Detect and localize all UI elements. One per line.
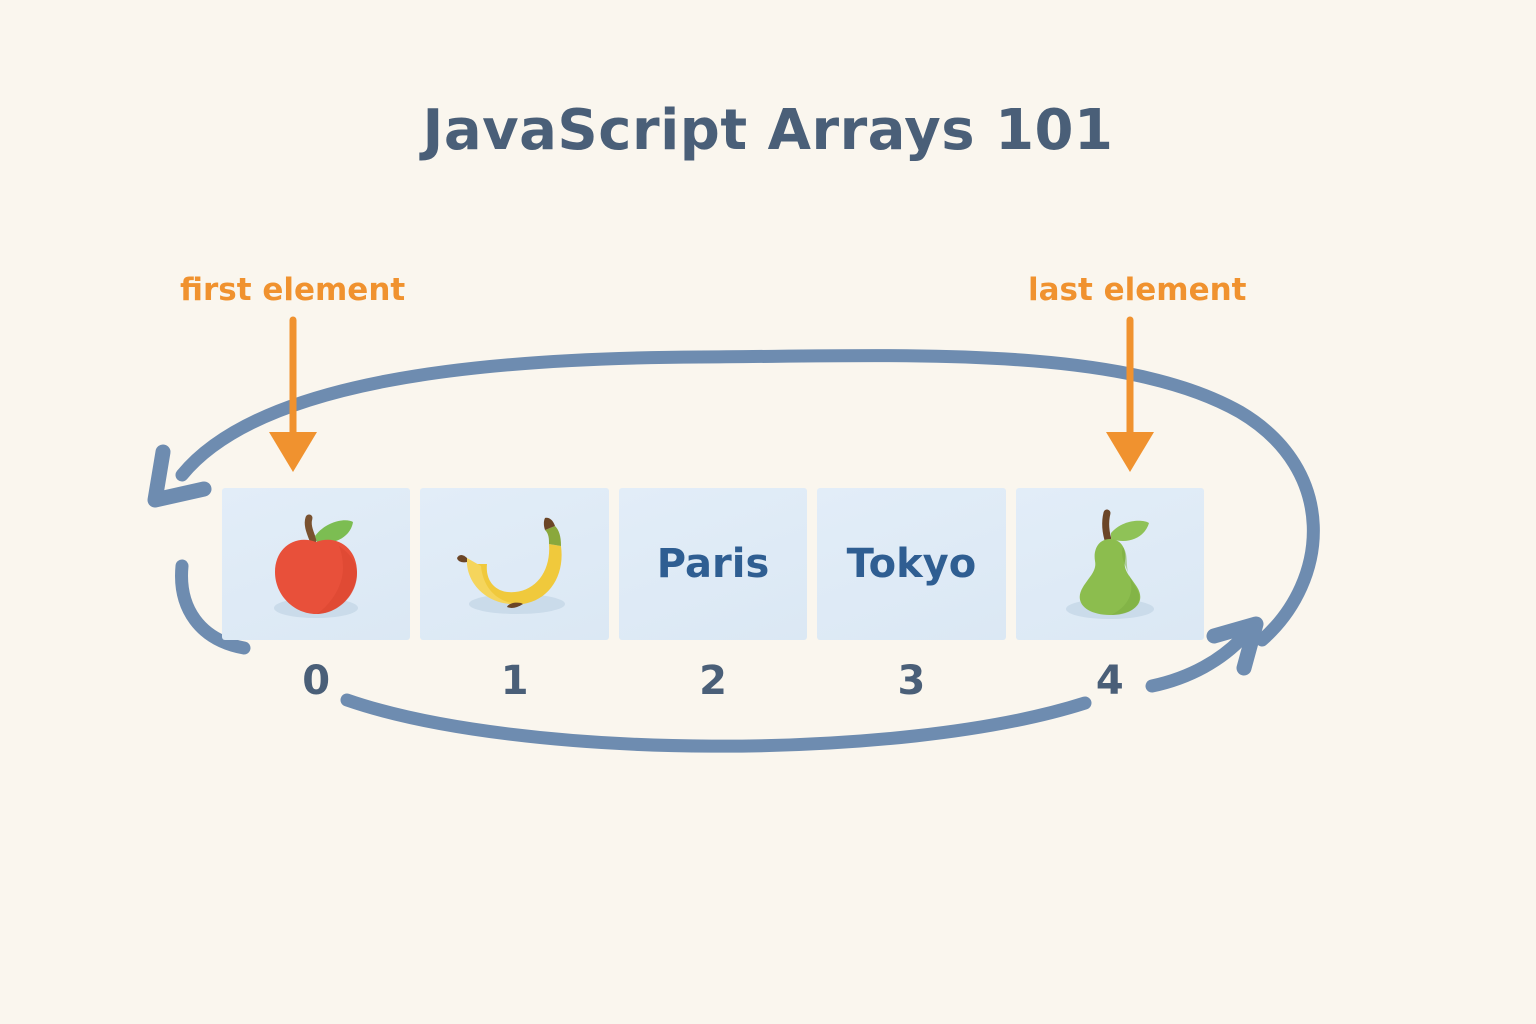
apple-icon xyxy=(251,504,381,624)
array-cell-2[interactable]: Paris xyxy=(619,488,807,640)
array-index-1: 1 xyxy=(420,658,608,708)
last-element-label: last element xyxy=(1028,272,1247,308)
wrap-backward-arrowhead xyxy=(155,452,204,500)
pear-icon xyxy=(1045,503,1175,625)
illustration-canvas: JavaScript Arrays 101 first element last… xyxy=(0,0,1536,1024)
wrap-forward-arrowhead xyxy=(1214,624,1256,668)
array-cell-4[interactable] xyxy=(1016,488,1204,640)
last-element-arrowhead-icon xyxy=(1106,432,1154,472)
array-cell-1[interactable] xyxy=(420,488,608,640)
array-cell-2-value: Paris xyxy=(657,541,769,587)
array-indices: 0 1 2 3 4 xyxy=(222,658,1204,708)
array-index-2: 2 xyxy=(619,658,807,708)
array-cell-0[interactable] xyxy=(222,488,410,640)
banana-icon xyxy=(445,504,585,624)
array-cells: Paris Tokyo xyxy=(222,488,1204,640)
array-cell-3[interactable]: Tokyo xyxy=(817,488,1005,640)
array-index-3: 3 xyxy=(817,658,1005,708)
array-index-4: 4 xyxy=(1016,658,1204,708)
first-element-label: first element xyxy=(180,272,405,308)
array-index-0: 0 xyxy=(222,658,410,708)
first-element-arrowhead-icon xyxy=(269,432,317,472)
array-cell-3-value: Tokyo xyxy=(847,541,977,587)
page-title: JavaScript Arrays 101 xyxy=(0,98,1536,163)
